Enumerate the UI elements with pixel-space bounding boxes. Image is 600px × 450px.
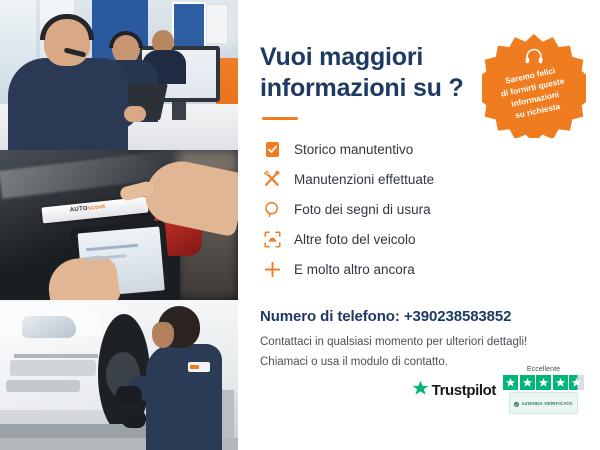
list-item: E molto altro ancora	[260, 254, 600, 284]
trustpilot-wordmark: Trustpilot	[432, 382, 496, 399]
star-icon	[503, 375, 518, 390]
trustpilot-rating[interactable]: Trustpilot Eccellente AZIENDA VERIFICATA	[412, 366, 584, 414]
clipboard-check-icon	[260, 138, 284, 160]
star-icon	[520, 375, 535, 390]
verified-company-badge: AZIENDA VERIFICATA	[509, 392, 577, 414]
plus-icon	[260, 258, 284, 280]
list-item-label: Altre foto del veicolo	[294, 232, 416, 247]
promo-card: AUTOscout Vuoi maggiori informazioni su …	[0, 0, 600, 450]
mechanic-wheel-check-photo	[0, 300, 238, 450]
title-divider	[262, 117, 298, 120]
feature-list: Storico manutentivo Manutenzioni effettu…	[260, 134, 600, 284]
headset-icon	[525, 48, 544, 70]
trustpilot-stars	[503, 375, 584, 390]
star-icon-half	[569, 375, 584, 390]
vehicle-inspection-ruler-photo: AUTOscout	[0, 150, 238, 300]
page-title: Vuoi maggiori informazioni su ?	[260, 42, 470, 103]
trustpilot-star-icon	[412, 380, 429, 401]
list-item: Foto dei segni di usura	[260, 194, 600, 224]
tools-cross-icon	[260, 168, 284, 190]
list-item: Storico manutentivo	[260, 134, 600, 164]
list-item-label: E molto altro ancora	[294, 262, 415, 277]
verified-check-icon	[514, 394, 519, 412]
list-item: Manutenzioni effettuate	[260, 164, 600, 194]
contact-note-line1: Contattaci in qualsiasi momento per ulte…	[260, 334, 600, 352]
trustpilot-rating-label: Eccellente	[527, 366, 560, 373]
star-icon	[536, 375, 551, 390]
star-icon	[553, 375, 568, 390]
magnifier-icon	[260, 198, 284, 220]
trustpilot-logo: Trustpilot	[412, 380, 496, 401]
photo-scan-icon	[260, 228, 284, 250]
list-item: Altre foto del veicolo	[260, 224, 600, 254]
list-item-label: Manutenzioni effettuate	[294, 172, 434, 187]
verified-label: AZIENDA VERIFICATA	[521, 401, 572, 406]
list-item-label: Foto dei segni di usura	[294, 202, 431, 217]
call-center-agents-photo	[0, 0, 238, 150]
phone-number[interactable]: Numero di telefono: +390238583852	[260, 308, 600, 325]
callback-badge: Saremo felici di fornirti queste informa…	[482, 34, 586, 138]
photo-column: AUTOscout	[0, 0, 238, 450]
list-item-label: Storico manutentivo	[294, 142, 413, 157]
trustpilot-score: Eccellente AZIENDA VERIFICATA	[503, 366, 584, 414]
content-panel: Vuoi maggiori informazioni su ? Storico …	[238, 0, 600, 450]
